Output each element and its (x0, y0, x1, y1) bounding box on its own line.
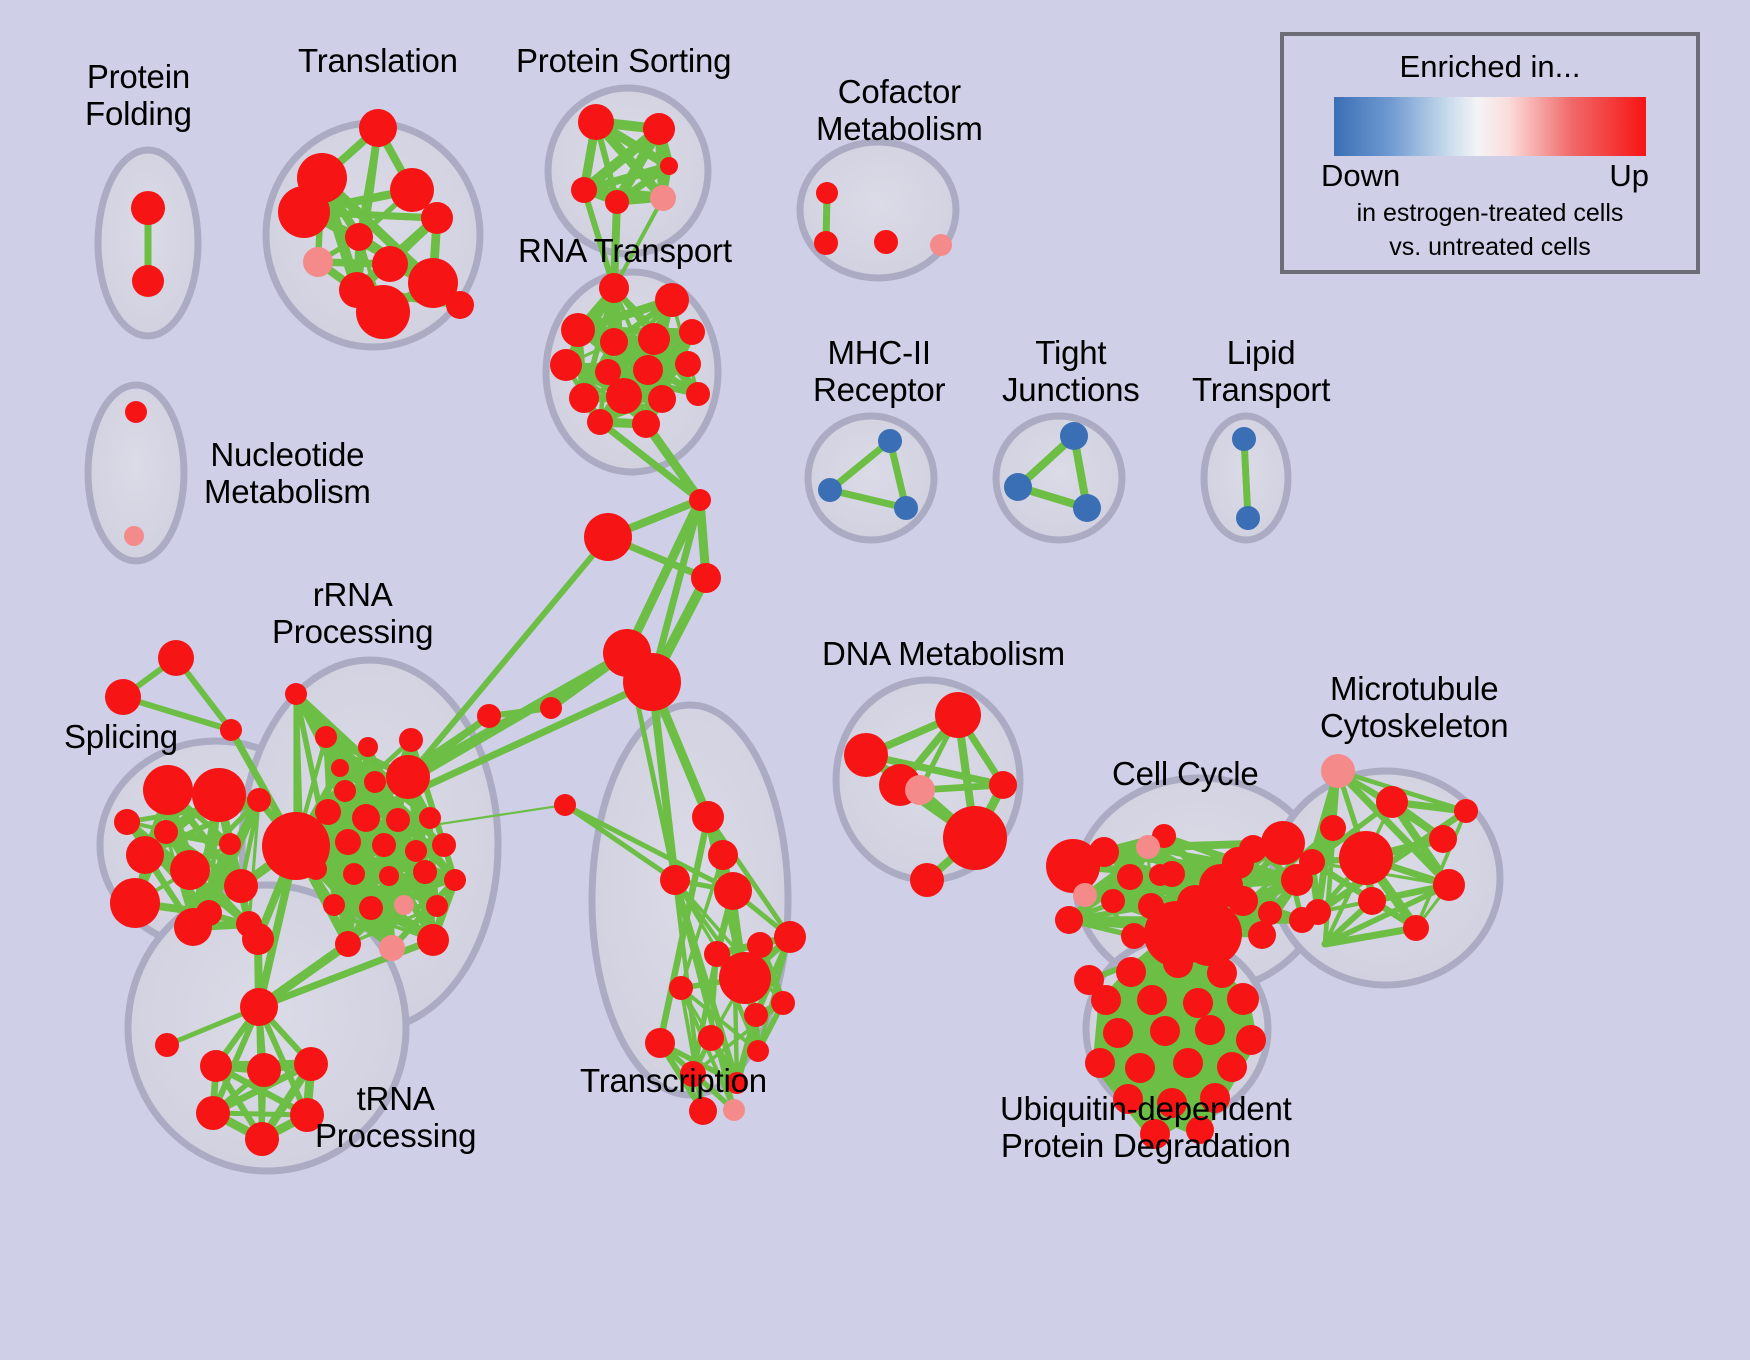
node-ubiquitin-10 (1195, 1015, 1225, 1045)
node-rna-transport-6 (679, 319, 705, 345)
node-transcription-3 (660, 865, 690, 895)
node-cell-cycle-13 (1046, 839, 1100, 893)
node-protein-sorting-5 (650, 185, 676, 211)
node-dna-metabolism-7 (910, 863, 944, 897)
node-translation-8 (303, 247, 333, 277)
legend-box: Enriched in... Down Up in estrogen-treat… (1280, 32, 1700, 274)
node-cell-cycle-23 (1136, 835, 1160, 859)
node-microtubule-1 (1321, 754, 1355, 788)
cluster-ellipse-mhc-ii-receptor (808, 416, 934, 540)
node-trna-isolated (155, 1033, 179, 1057)
node-backbone-1 (689, 489, 711, 511)
node-dna-metabolism-4 (844, 733, 888, 777)
node-trna-processing-3 (294, 1047, 328, 1081)
node-translation-4 (278, 186, 330, 238)
node-rrna-processing-11 (386, 808, 410, 832)
node-cell-cycle-21 (1073, 883, 1097, 907)
node-transcription-13 (747, 1040, 769, 1062)
node-ubiquitin-5 (1137, 985, 1167, 1015)
enrichment-network-figure: Protein FoldingTranslationNucleotide Met… (0, 0, 1750, 1360)
node-dna-metabolism-6 (905, 775, 935, 805)
node-ubiquitin-18 (1200, 1083, 1230, 1113)
node-ubiquitin-top-hub (1144, 901, 1210, 967)
node-cell-cycle-20 (1149, 864, 1171, 886)
node-protein-folding-1 (131, 191, 165, 225)
node-translation-1 (359, 109, 397, 147)
legend-subtitle-line1: in estrogen-treated cells (1284, 198, 1696, 228)
node-backbone-3 (691, 563, 721, 593)
node-protein-sorting-6 (660, 157, 678, 175)
node-microtubule-9 (1305, 899, 1331, 925)
node-translation-6 (345, 223, 373, 251)
node-splicing-10 (154, 820, 178, 844)
node-bridge-rrna-transcription (554, 794, 576, 816)
node-dna-metabolism-1 (989, 771, 1017, 799)
node-microtubule-5 (1429, 825, 1457, 853)
node-trna-processing-5 (245, 1122, 279, 1156)
node-ubiquitin-16 (1113, 1084, 1143, 1114)
node-splicing-5 (110, 878, 160, 928)
node-transcription-12 (698, 1025, 724, 1051)
node-rrna-processing-7 (364, 771, 386, 793)
node-splicing-1 (143, 765, 193, 815)
node-splicing-outlier-1 (158, 640, 194, 676)
node-protein-sorting-4 (605, 190, 629, 214)
node-cell-cycle-14 (1055, 906, 1083, 934)
node-lipid-transport-2 (1236, 506, 1260, 530)
node-rrna-processing-2 (358, 737, 378, 757)
node-splicing-9 (114, 809, 140, 835)
node-splicing-3 (126, 836, 164, 874)
node-ubiquitin-3 (1207, 958, 1237, 988)
node-rrna-processing-24 (359, 896, 383, 920)
node-transcription-14 (645, 1028, 675, 1058)
node-translation-5 (421, 202, 453, 234)
node-rrna-processing-8 (386, 755, 430, 799)
node-transcription-2 (708, 840, 738, 870)
node-translation-11 (356, 285, 410, 339)
node-splicing-12 (196, 900, 222, 926)
node-lipid-transport-1 (1232, 427, 1256, 451)
node-cell-cycle-11 (1101, 889, 1125, 913)
node-rna-transport-12 (606, 378, 642, 414)
node-rrna-processing-21 (413, 860, 437, 884)
node-translation-12 (446, 291, 474, 319)
node-rrna-processing-4 (331, 759, 349, 777)
node-cell-cycle-4 (1261, 821, 1305, 865)
node-protein-sorting-2 (643, 113, 675, 145)
node-protein-sorting-3 (571, 177, 597, 203)
node-ubiquitin-9 (1150, 1016, 1180, 1046)
node-mhc-ii-3 (894, 496, 918, 520)
node-transcription-18 (689, 1097, 717, 1125)
node-transcription-17 (723, 1099, 745, 1121)
node-ubiquitin-7 (1227, 983, 1259, 1015)
node-rrna-processing-30 (417, 924, 449, 956)
node-rrna-processing-3 (399, 728, 423, 752)
node-ubiquitin-14 (1173, 1048, 1203, 1078)
node-transcription-16 (726, 1072, 748, 1094)
node-trna-processing-4 (196, 1096, 230, 1130)
node-rrna-processing-14 (335, 829, 361, 855)
node-rrna-processing-6 (334, 780, 356, 802)
node-rrna-processing-27 (262, 812, 330, 880)
node-rrna-processing-12 (419, 807, 441, 829)
node-rrna-processing-25 (394, 895, 414, 915)
node-ubiquitin-20 (1186, 1116, 1214, 1144)
node-rrna-processing-15 (372, 833, 396, 857)
node-cell-cycle-24 (1258, 901, 1282, 925)
node-transcription-10 (771, 991, 795, 1015)
node-cell-cycle-5 (1117, 864, 1143, 890)
node-splicing-7 (224, 869, 258, 903)
node-splicing-2 (192, 768, 246, 822)
node-rna-transport-9 (633, 355, 663, 385)
node-ubiquitin-19 (1140, 1119, 1170, 1149)
node-rna-transport-7 (550, 349, 582, 381)
node-tight-junctions-2 (1004, 473, 1032, 501)
node-cofactor-metabolism-2 (814, 231, 838, 255)
node-ubiquitin-8 (1103, 1018, 1133, 1048)
node-ubiquitin-13 (1125, 1053, 1155, 1083)
node-microtubule-3 (1320, 815, 1346, 841)
node-rna-transport-16 (632, 410, 660, 438)
node-microtubule-4 (1339, 831, 1393, 885)
node-dna-metabolism-3 (935, 692, 981, 738)
node-transcription-8 (774, 921, 806, 953)
node-rna-transport-10 (675, 351, 701, 377)
node-nucleotide-metabolism-1 (125, 401, 147, 423)
node-rrna-processing-17 (432, 833, 456, 857)
node-cofactor-metabolism-3 (874, 230, 898, 254)
legend-color-gradient-bar (1334, 97, 1646, 156)
node-bridge-upper-2 (540, 697, 562, 719)
node-rrna-processing-5 (285, 683, 307, 705)
node-transcription-9 (719, 952, 771, 1004)
legend-down-label: Down (1321, 158, 1400, 194)
node-rrna-processing-10 (352, 804, 380, 832)
node-nucleotide-metabolism-2 (124, 526, 144, 546)
node-protein-sorting-1 (578, 104, 614, 140)
node-transcription-15 (680, 1061, 706, 1087)
node-protein-folding-2 (132, 265, 164, 297)
node-rrna-processing-1 (315, 726, 337, 748)
node-tight-junctions-3 (1073, 494, 1101, 522)
node-cofactor-metabolism-4 (930, 234, 952, 256)
node-tight-junctions-1 (1060, 422, 1088, 450)
node-microtubule-7 (1433, 869, 1465, 901)
node-transcription-1 (692, 801, 724, 833)
cluster-ellipse-protein-sorting (548, 88, 708, 254)
node-backbone-2 (584, 513, 632, 561)
node-transcription-6 (669, 976, 693, 1000)
node-trna-hub (240, 988, 278, 1026)
node-cell-cycle-22 (1222, 847, 1254, 879)
node-transcription-4 (714, 872, 752, 910)
node-rna-transport-11 (569, 383, 599, 413)
legend-endpoints: Down Up (1325, 158, 1655, 194)
node-microtubule-11 (1403, 915, 1429, 941)
node-mhc-ii-1 (878, 429, 902, 453)
node-ubiquitin-17 (1157, 1088, 1187, 1118)
node-splicing-outlier-2 (105, 679, 141, 715)
node-dna-metabolism-5 (943, 806, 1007, 870)
node-trna-processing-1 (200, 1050, 232, 1082)
node-ubiquitin-15 (1217, 1052, 1247, 1082)
node-rrna-processing-16 (405, 840, 427, 862)
node-ubiquitin-1 (1116, 957, 1146, 987)
node-rrna-processing-29 (379, 935, 405, 961)
node-bridge-upper-1 (477, 704, 501, 728)
legend-title: Enriched in... (1284, 49, 1696, 85)
node-backbone-hub-lower (623, 653, 681, 711)
node-rrna-processing-20 (379, 866, 399, 886)
node-rna-transport-5 (638, 323, 670, 355)
node-rrna-processing-23 (323, 894, 345, 916)
node-rna-transport-15 (587, 409, 613, 435)
node-rna-transport-4 (600, 328, 628, 356)
node-ubiquitin-11 (1236, 1025, 1266, 1055)
legend-subtitle-line2: vs. untreated cells (1284, 232, 1696, 262)
node-trna-processing-6 (290, 1098, 324, 1132)
node-cofactor-metabolism-1 (816, 182, 838, 204)
node-rrna-processing-28 (335, 931, 361, 957)
node-cell-cycle-17 (1248, 921, 1276, 949)
node-splicing-8 (219, 833, 241, 855)
node-rna-transport-2 (655, 283, 689, 317)
node-splicing-4 (170, 850, 210, 890)
node-mhc-ii-2 (818, 478, 842, 502)
node-rna-transport-14 (686, 382, 710, 406)
node-ubiquitin-12 (1085, 1048, 1115, 1078)
node-rrna-processing-19 (343, 863, 365, 885)
node-ubiquitin-4 (1091, 985, 1121, 1015)
network-edge (408, 537, 608, 777)
node-rrna-processing-26 (426, 895, 448, 917)
node-trna-link-1 (242, 923, 274, 955)
node-transcription-11 (744, 1003, 768, 1027)
node-splicing-11 (247, 788, 271, 812)
node-ubiquitin-6 (1183, 988, 1213, 1018)
node-microtubule-10 (1454, 799, 1478, 823)
node-rna-transport-1 (599, 273, 629, 303)
node-rna-transport-13 (648, 385, 676, 413)
node-rrna-processing-22 (444, 869, 466, 891)
node-cell-cycle-15 (1121, 923, 1147, 949)
node-microtubule-2 (1376, 786, 1408, 818)
node-microtubule-6 (1358, 887, 1386, 915)
node-rna-transport-3 (561, 313, 595, 347)
node-microtubule-8 (1299, 849, 1325, 875)
node-translation-7 (372, 246, 408, 282)
node-splicing-outlier-3 (220, 719, 242, 741)
node-trna-processing-2 (247, 1053, 281, 1087)
legend-up-label: Up (1609, 158, 1649, 194)
